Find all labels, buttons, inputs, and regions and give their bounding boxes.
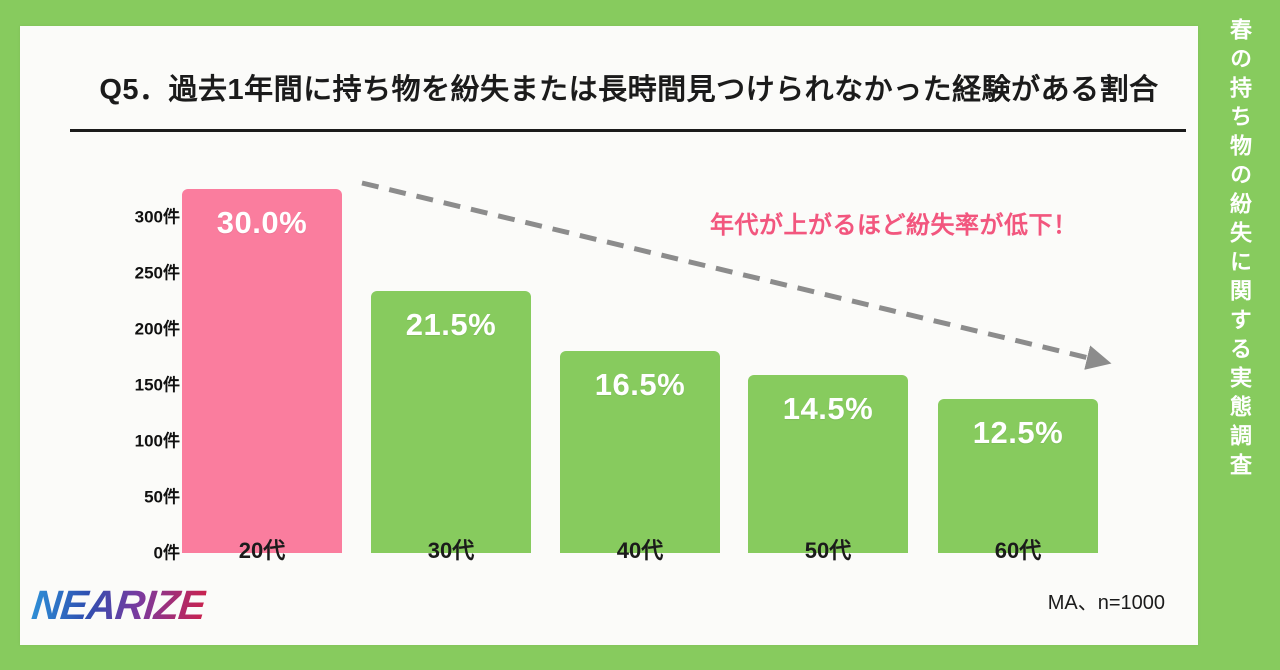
- bar-value-label: 30.0%: [182, 205, 342, 241]
- y-axis-tick: 100件: [50, 427, 180, 452]
- y-axis-tick: 250件: [50, 259, 180, 284]
- bar-60dai: 12.5%: [938, 399, 1098, 553]
- y-axis-tick: 50件: [50, 483, 180, 508]
- bar-value-label: 16.5%: [560, 367, 720, 403]
- y-axis-tick: 150件: [50, 371, 180, 396]
- bar-value-label: 12.5%: [938, 415, 1098, 451]
- y-axis-tick: 0件: [50, 539, 180, 564]
- nearize-logo: NEARIZE: [30, 582, 208, 629]
- annotation-text: 年代が上がるほど紛失率が低下！: [710, 205, 1078, 240]
- bar-30dai: 21.5%: [371, 291, 531, 553]
- bar-20dai: 30.0%: [182, 189, 342, 553]
- x-axis-tick-50dai: 50代: [748, 533, 908, 565]
- vertical-side-title: 春の持ち物の紛失に関する実態調査: [1198, 0, 1280, 670]
- x-axis-tick-60dai: 60代: [938, 533, 1098, 565]
- y-axis-tick: 300件: [50, 203, 180, 228]
- vertical-side-title-text: 春の持ち物の紛失に関する実態調査: [1228, 18, 1250, 670]
- x-axis-tick-40dai: 40代: [560, 533, 720, 565]
- chart-footnote: MA、n=1000: [1048, 586, 1165, 615]
- report-card: Q5．過去1年間に持ち物を紛失または長時間見つけられなかった経験がある割合 30…: [20, 26, 1198, 645]
- x-axis-tick-30dai: 30代: [371, 533, 531, 565]
- bar-value-label: 14.5%: [748, 391, 908, 427]
- bar-40dai: 16.5%: [560, 351, 720, 553]
- y-axis-tick: 200件: [50, 315, 180, 340]
- x-axis-tick-20dai: 20代: [182, 533, 342, 565]
- bar-value-label: 21.5%: [371, 307, 531, 343]
- bar-50dai: 14.5%: [748, 375, 908, 553]
- bar-chart: 300件 250件 200件 150件 100件 50件 0件 30.0% 21…: [20, 26, 1198, 645]
